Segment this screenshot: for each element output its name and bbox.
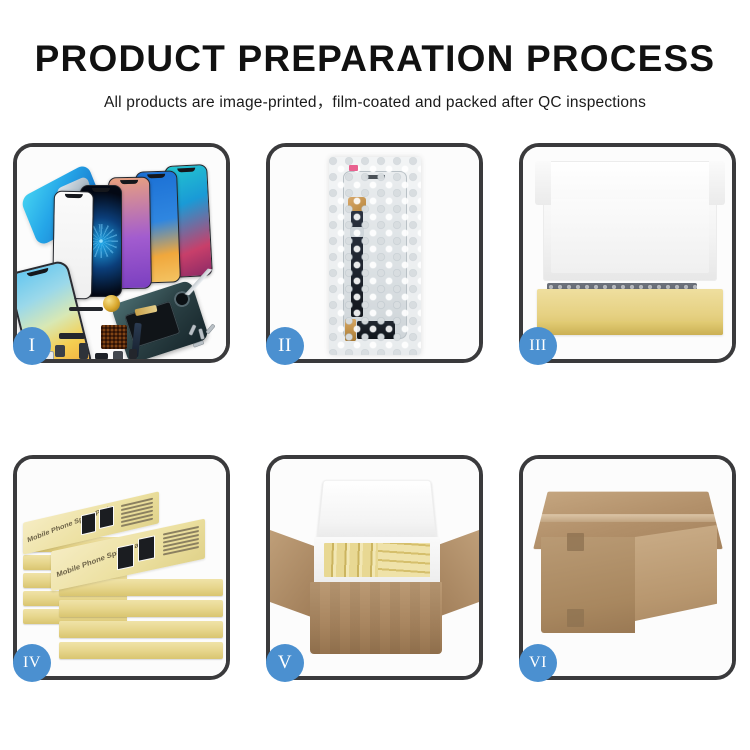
box-screen-image	[81, 512, 96, 535]
box-screen-image	[99, 506, 114, 529]
stacked-boxes-scene: Mobile Phone Spare Parts	[17, 459, 226, 676]
notch-icon	[177, 168, 195, 173]
step-1-image	[17, 147, 226, 359]
carton-foam-scene	[270, 459, 479, 676]
step-badge-6: VI	[519, 644, 557, 682]
retail-boxes-inside	[324, 543, 430, 577]
bubble-wrap-bag	[329, 157, 421, 355]
sealed-carton-scene	[523, 459, 732, 676]
notch-icon	[92, 188, 110, 192]
step-badge-5: V	[266, 644, 304, 682]
foam-box-lid	[317, 480, 438, 542]
process-step-panel-2: II	[266, 143, 483, 363]
chip-grid-icon	[101, 325, 127, 349]
header: PRODUCT PREPARATION PROCESS All products…	[0, 0, 750, 112]
screws-icon	[188, 323, 218, 349]
process-step-grid: I	[13, 143, 737, 680]
spare-part	[113, 351, 123, 359]
process-step-panel-4: Mobile Phone Spare Parts	[13, 455, 230, 680]
kraft-box-front-edge	[537, 321, 723, 335]
bubble-wrap-scene	[270, 147, 479, 359]
spare-part	[95, 353, 108, 359]
box-stack: Mobile Phone Spare Parts	[23, 483, 226, 667]
open-box-scene	[523, 147, 732, 359]
spare-part	[79, 343, 88, 359]
notch-icon	[147, 174, 165, 179]
step-2-image	[270, 147, 479, 359]
process-step-panel-1: I	[13, 143, 230, 363]
product-preparation-infographic: PRODUCT PREPARATION PROCESS All products…	[0, 0, 750, 750]
stacked-box	[59, 600, 223, 617]
step-4-image: Mobile Phone Spare Parts	[17, 459, 226, 676]
spare-part	[59, 333, 85, 339]
foam-sheet	[551, 199, 709, 273]
stacked-box	[59, 642, 223, 659]
step-3-image	[523, 147, 732, 359]
process-step-panel-3: III	[519, 143, 736, 363]
carton-tape-lower	[567, 609, 584, 627]
carton-body	[310, 582, 442, 654]
earpiece-mesh-icon	[69, 307, 103, 311]
process-step-panel-6: VI	[519, 455, 736, 680]
phone-parts-scene	[17, 147, 226, 359]
step-5-image	[270, 459, 479, 676]
notch-icon	[65, 194, 83, 198]
notch-icon	[27, 268, 49, 277]
step-badge-1: I	[13, 327, 51, 365]
carton-front-face	[541, 537, 635, 633]
notch-icon	[120, 180, 138, 184]
process-step-panel-5: V	[266, 455, 483, 680]
stacked-box	[59, 621, 223, 638]
page-title: PRODUCT PREPARATION PROCESS	[0, 38, 750, 80]
vibration-motor-icon	[103, 295, 120, 312]
spare-part	[129, 349, 137, 359]
bubble-texture-shadow	[329, 157, 421, 355]
box-screen-image	[117, 544, 134, 571]
page-subtitle: All products are image-printed，film-coat…	[0, 90, 750, 112]
box-screen-image	[138, 535, 155, 562]
pink-label-tab	[349, 165, 358, 171]
step-badge-4: IV	[13, 644, 51, 682]
spare-part	[55, 345, 65, 357]
box-spec-lines	[163, 526, 199, 558]
step-badge-2: II	[266, 327, 304, 365]
step-6-image	[523, 459, 732, 676]
carton-tape-upper	[567, 533, 584, 551]
carton-side-face	[635, 525, 717, 621]
box-spec-lines	[121, 498, 153, 529]
step-badge-3: III	[519, 327, 557, 365]
